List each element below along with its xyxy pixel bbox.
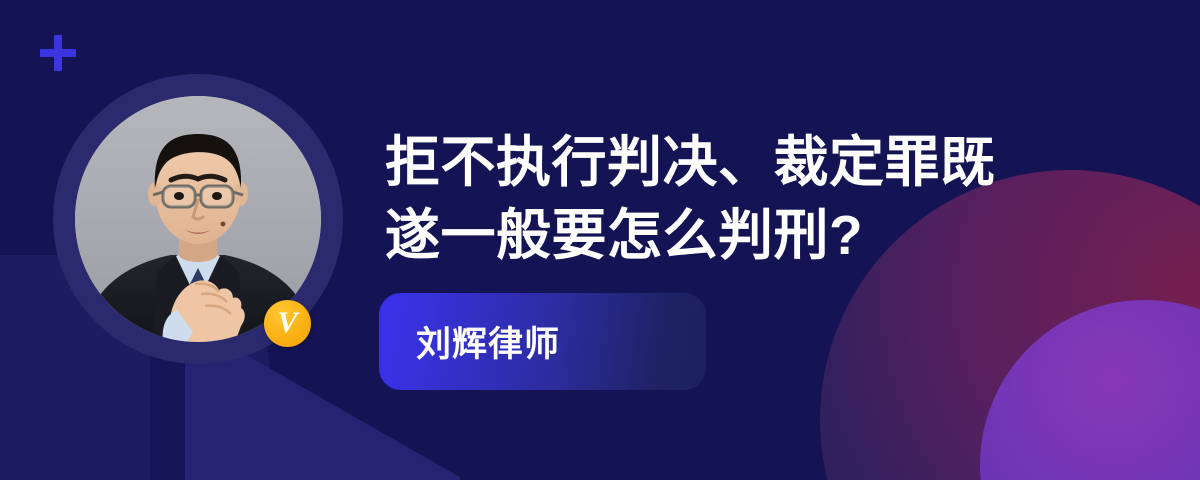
verified-v-icon: V bbox=[277, 308, 297, 338]
avatar: V bbox=[53, 74, 343, 364]
lawyer-name-label: 刘辉律师 bbox=[379, 316, 560, 367]
page-title: 拒不执行判决、裁定罪既 遂一般要怎么判刑? bbox=[385, 126, 1085, 272]
violet-glow-circle-decoration bbox=[980, 300, 1200, 480]
lawyer-name-badge[interactable]: 刘辉律师 bbox=[379, 293, 706, 390]
promo-banner: V 拒不执行判决、裁定罪既 遂一般要怎么判刑? 刘辉律师 bbox=[0, 0, 1200, 480]
plus-icon bbox=[40, 35, 76, 71]
verified-badge: V bbox=[264, 300, 311, 347]
